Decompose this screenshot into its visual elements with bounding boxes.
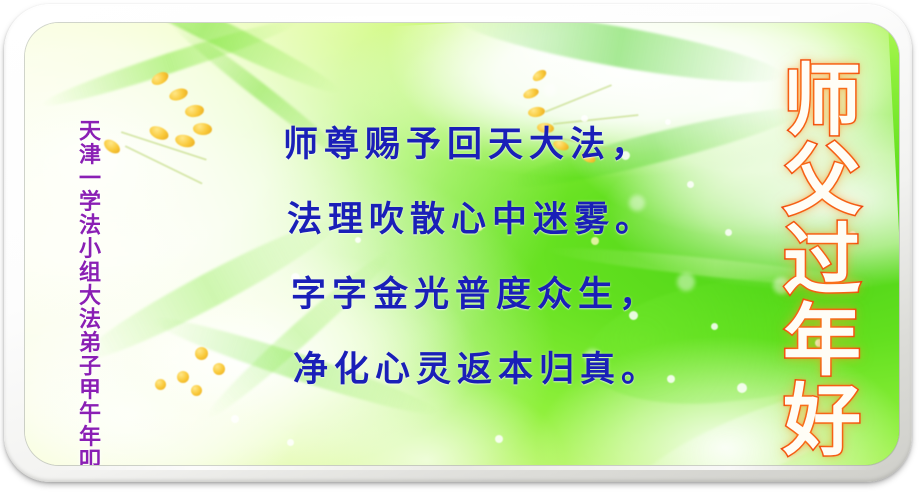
poem-block: 师尊赐予回天大法， 法理吹散心中迷雾。 字字金光普度众生， 净化心灵返本归真。	[283, 127, 703, 427]
frame-bevel-top-highlight	[30, 16, 894, 20]
bokeh-dot	[725, 229, 732, 236]
poem-line-1: 师尊赐予回天大法，	[283, 127, 703, 162]
bokeh-dot	[711, 323, 718, 330]
bokeh-dot	[737, 383, 747, 393]
poem-line-2: 法理吹散心中迷雾。	[287, 202, 703, 237]
stamen-anther	[155, 379, 166, 390]
bokeh-dot	[231, 415, 239, 423]
card-artwork-plate: 天津一学法小组大法弟子甲午年叩拜 师尊赐予回天大法， 法理吹散心中迷雾。 字字金…	[25, 23, 899, 465]
stamen-anther	[195, 347, 208, 360]
greeting-title-column: 师父过年好	[777, 59, 861, 459]
bokeh-dot	[543, 83, 557, 97]
bokeh-dot	[665, 119, 671, 125]
frame-bevel-bottom-highlight	[44, 465, 880, 470]
poem-line-4: 净化心灵返本归真。	[293, 352, 703, 387]
card-stage: 天津一学法小组大法弟子甲午年叩拜 师尊赐予回天大法， 法理吹散心中迷雾。 字字金…	[0, 0, 920, 493]
stamen-anther	[213, 363, 225, 375]
poem-line-3: 字字金光普度众生，	[291, 277, 703, 312]
bokeh-dot	[287, 439, 294, 446]
bokeh-dot	[581, 115, 588, 122]
stamen-anther	[191, 385, 202, 396]
stamen-anther	[177, 371, 189, 383]
card-frame: 天津一学法小组大法弟子甲午年叩拜 师尊赐予回天大法， 法理吹散心中迷雾。 字字金…	[4, 4, 912, 482]
bokeh-dot	[495, 435, 503, 443]
signature-column: 天津一学法小组大法弟子甲午年叩拜	[61, 119, 101, 465]
